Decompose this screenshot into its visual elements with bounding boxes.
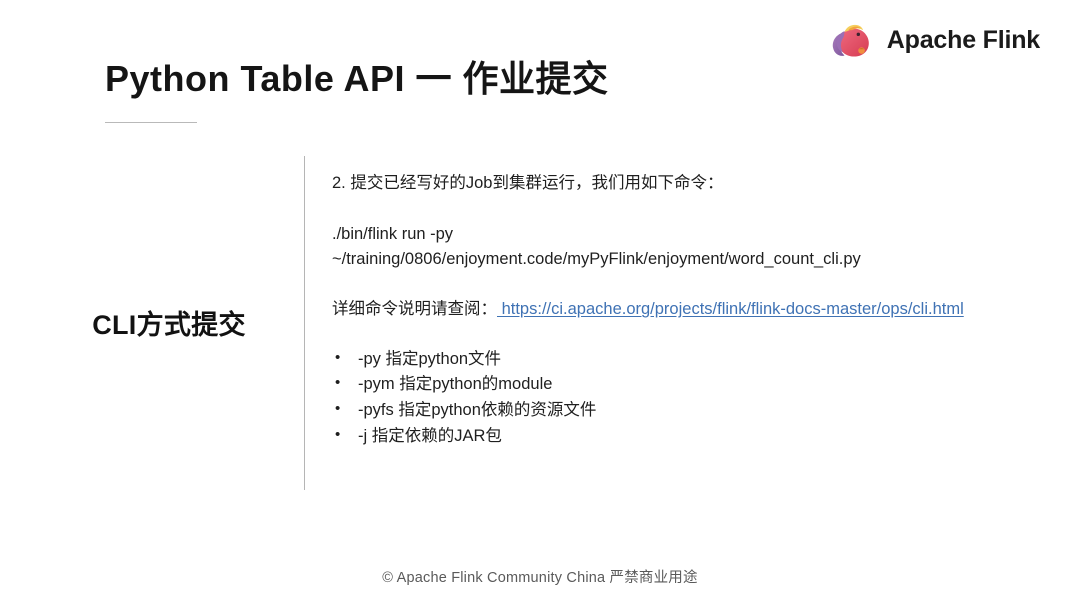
docs-link[interactable]: https://ci.apache.org/projects/flink/fli… bbox=[497, 300, 964, 318]
list-item: -py 指定python文件 bbox=[332, 347, 972, 373]
list-item: -pyfs 指定python依赖的资源文件 bbox=[332, 398, 972, 424]
list-item: -pym 指定python的module bbox=[332, 372, 972, 398]
content-body: 2. 提交已经写好的Job到集群运行，我们用如下命令： ./bin/flink … bbox=[332, 172, 972, 450]
apache-flink-squirrel-icon bbox=[825, 14, 877, 66]
docs-link-paragraph: 详细命令说明请查阅： https://ci.apache.org/project… bbox=[332, 297, 972, 322]
command-line-1: ./bin/flink run -py bbox=[332, 222, 972, 247]
title-underline-rule bbox=[105, 122, 197, 123]
page-title: Python Table API 一 作业提交 bbox=[105, 58, 609, 99]
brand-name: Apache Flink bbox=[887, 26, 1040, 55]
brand-logo: Apache Flink bbox=[825, 14, 1040, 66]
options-list: -py 指定python文件 -pym 指定python的module -pyf… bbox=[332, 347, 972, 451]
section-label-cli: CLI方式提交 bbox=[40, 303, 298, 342]
intro-paragraph: 2. 提交已经写好的Job到集群运行，我们用如下命令： bbox=[332, 172, 972, 196]
command-line-2: ~/training/0806/enjoyment.code/myPyFlink… bbox=[332, 247, 972, 272]
footer-copyright: © Apache Flink Community China 严禁商业用途 bbox=[0, 566, 1080, 587]
vertical-divider bbox=[304, 156, 305, 490]
docs-link-prefix: 详细命令说明请查阅： bbox=[332, 300, 497, 318]
list-item: -j 指定依赖的JAR包 bbox=[332, 424, 972, 450]
command-block: ./bin/flink run -py ~/training/0806/enjo… bbox=[332, 222, 972, 272]
